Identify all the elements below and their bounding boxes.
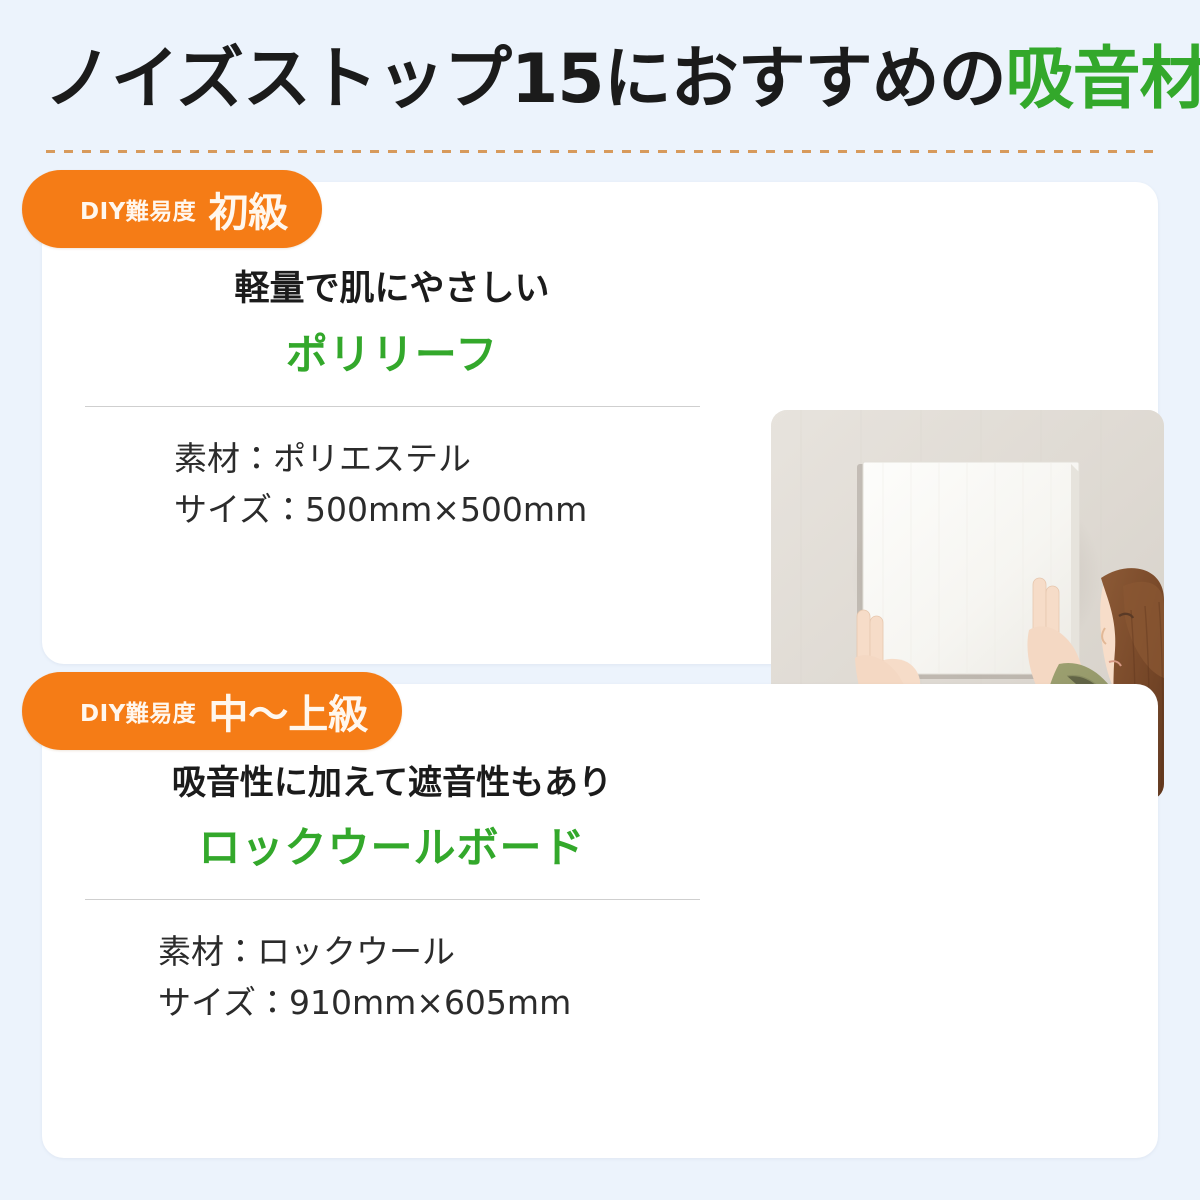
- page-title-accent: 吸音材: [1006, 46, 1200, 114]
- difficulty-badge: DIY難易度 初級: [22, 170, 322, 248]
- product-card-rockwool: DIY難易度 中〜上級 吸音性に加えて遮音性もあり ロックウールボード 素材：ロ…: [42, 684, 1158, 1158]
- title-dotted-divider: [46, 150, 1156, 153]
- product-specs: 素材：ポリエステル サイズ：500mm×500mm: [42, 433, 742, 535]
- card-divider: [85, 406, 700, 407]
- product-name: ポリリーフ: [42, 328, 742, 383]
- card-headline: 軽量で肌にやさしい: [42, 268, 742, 312]
- product-card-polyleaf: DIY難易度 初級 軽量で肌にやさしい ポリリーフ 素材：ポリエステル サイズ：…: [42, 182, 1158, 664]
- page-title-main: ノイズストップ15におすすめの: [44, 46, 1006, 114]
- card-divider: [85, 899, 700, 900]
- infographic-page: ノイズストップ15におすすめの吸音材 DIY難易度 初級 軽量で肌にやさしい ポ…: [0, 0, 1200, 1200]
- card-headline: 吸音性に加えて遮音性もあり: [42, 762, 742, 805]
- product-specs: 素材：ロックウール サイズ：910mm×605mm: [42, 926, 742, 1028]
- difficulty-badge-label: DIY難易度: [80, 694, 196, 728]
- spec-size: サイズ：910mm×605mm: [158, 977, 742, 1028]
- difficulty-badge-label: DIY難易度: [80, 192, 196, 226]
- product-name: ロックウールボード: [42, 821, 742, 876]
- page-title: ノイズストップ15におすすめの吸音材: [44, 38, 1164, 122]
- difficulty-badge-level: 初級: [208, 180, 288, 238]
- spec-material: 素材：ポリエステル: [174, 433, 742, 484]
- difficulty-badge: DIY難易度 中〜上級: [22, 672, 402, 750]
- card-text-column: 吸音性に加えて遮音性もあり ロックウールボード 素材：ロックウール サイズ：91…: [42, 762, 742, 1028]
- difficulty-badge-level: 中〜上級: [208, 682, 368, 740]
- spec-size: サイズ：500mm×500mm: [174, 484, 742, 535]
- spec-material: 素材：ロックウール: [158, 926, 742, 977]
- card-text-column: 軽量で肌にやさしい ポリリーフ 素材：ポリエステル サイズ：500mm×500m…: [42, 268, 742, 536]
